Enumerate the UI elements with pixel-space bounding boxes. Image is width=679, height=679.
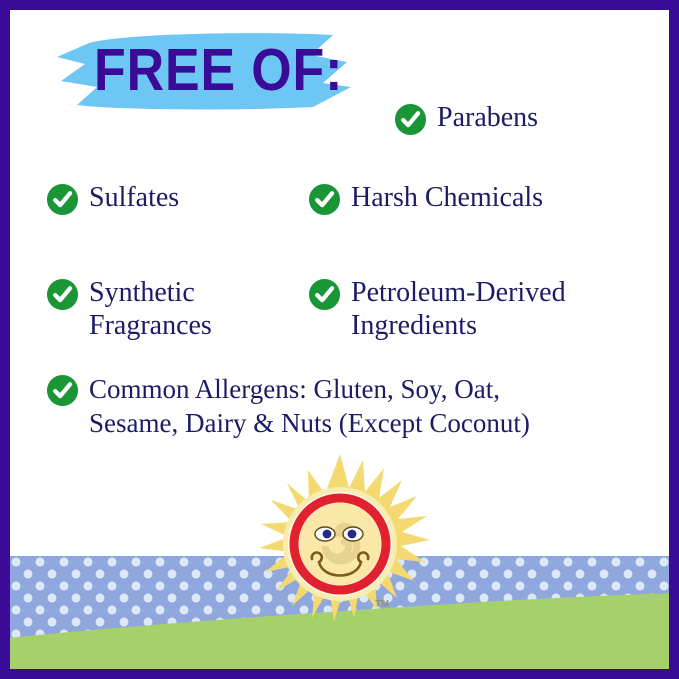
claim-item-sulfates: Sulfates: [46, 181, 179, 216]
free-of-banner: FREE OF:: [55, 31, 355, 111]
product-claims-graphic: TM FREE OF: Parabens Sulfates: [0, 0, 679, 679]
banner-title: FREE OF:: [94, 38, 343, 102]
trademark-mark: TM: [375, 599, 389, 610]
check-circle-icon: [46, 278, 79, 311]
check-circle-icon: [46, 374, 79, 407]
claim-label: Petroleum-Derived Ingredients: [351, 276, 566, 342]
claim-label: Parabens: [437, 101, 538, 134]
check-circle-icon: [394, 103, 427, 136]
claim-item-synthetic-fragrances: Synthetic Fragrances: [46, 276, 212, 342]
check-circle-icon: [308, 183, 341, 216]
smiling-sun-logo: [249, 452, 431, 634]
claim-item-harsh-chemicals: Harsh Chemicals: [308, 181, 543, 216]
claim-label: Common Allergens: Gluten, Soy, Oat, Sesa…: [89, 372, 530, 440]
claim-label: Sulfates: [89, 181, 179, 214]
claim-item-parabens: Parabens: [394, 101, 538, 136]
claim-label: Harsh Chemicals: [351, 181, 543, 214]
claim-label: Synthetic Fragrances: [89, 276, 212, 342]
claim-item-petroleum-derived: Petroleum-Derived Ingredients: [308, 276, 566, 342]
check-circle-icon: [46, 183, 79, 216]
check-circle-icon: [308, 278, 341, 311]
claim-item-common-allergens: Common Allergens: Gluten, Soy, Oat, Sesa…: [46, 372, 646, 440]
